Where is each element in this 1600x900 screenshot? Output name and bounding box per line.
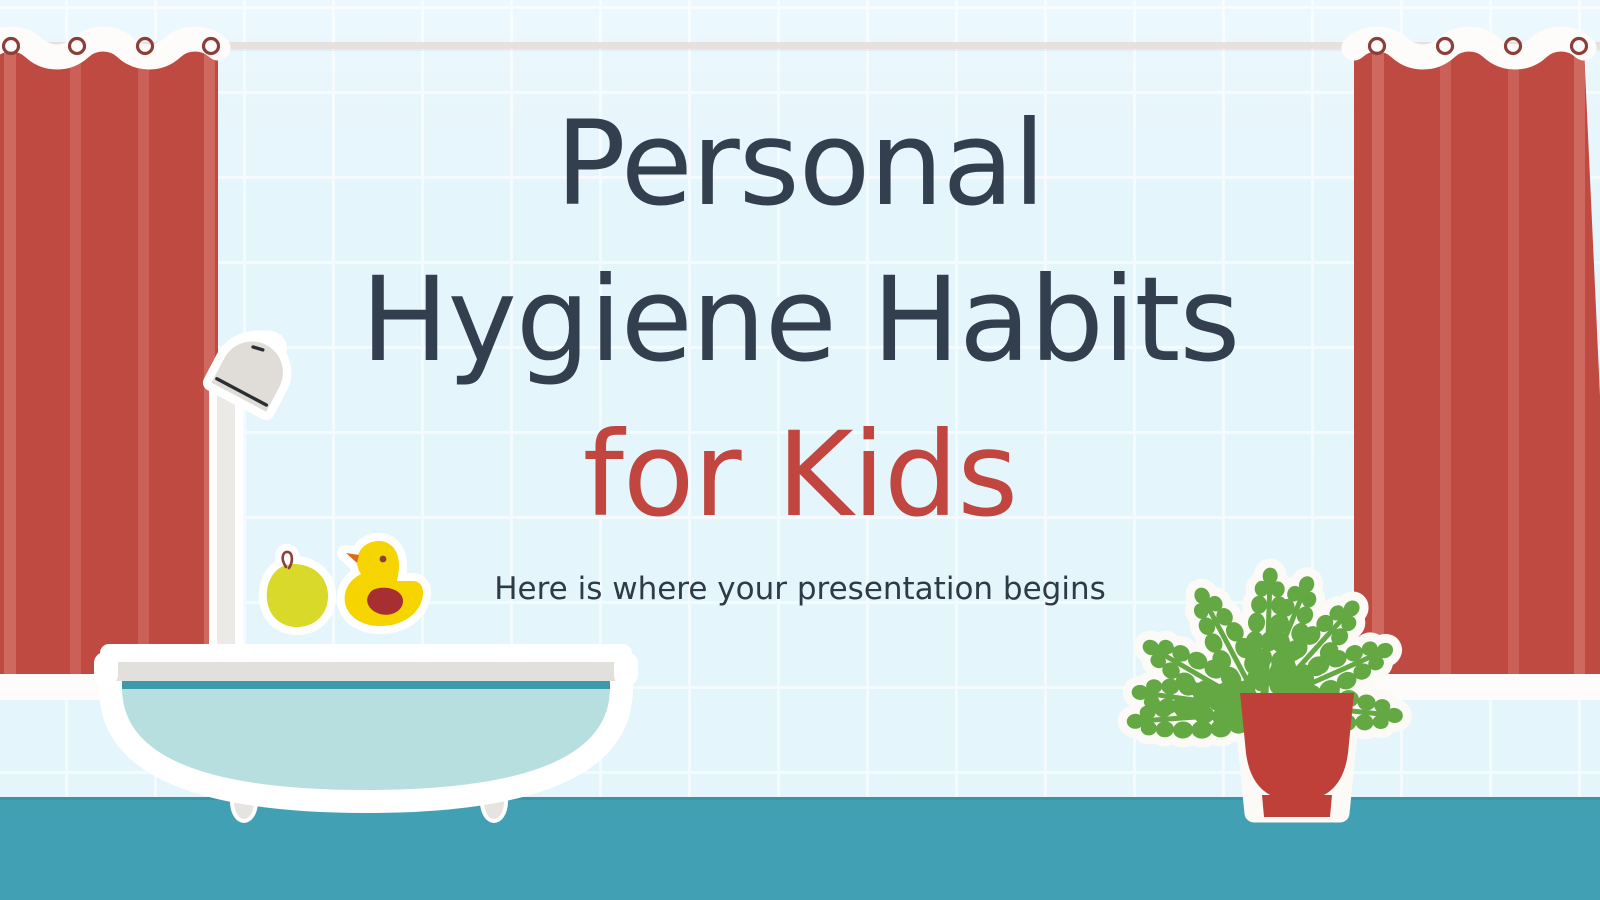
title-line-3-accent: for Kids bbox=[0, 397, 1600, 553]
title-line-2: Hygiene Habits bbox=[0, 242, 1600, 398]
title-slide: Personal Hygiene Habits for Kids Here is… bbox=[0, 0, 1600, 900]
slide-subtitle: Here is where your presentation begins bbox=[0, 571, 1600, 607]
title-line-1: Personal bbox=[0, 86, 1600, 242]
title-block: Personal Hygiene Habits for Kids Here is… bbox=[0, 86, 1600, 607]
clawfoot-bathtub bbox=[96, 636, 636, 826]
